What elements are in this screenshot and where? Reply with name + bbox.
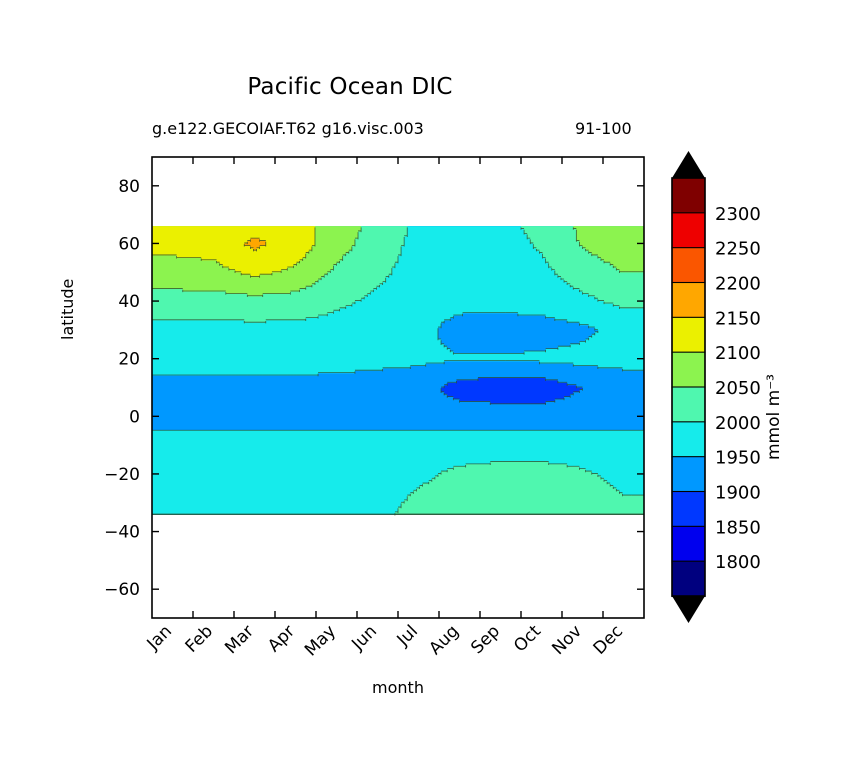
colorbar-tick-label: 1850 (715, 517, 761, 538)
colorbar-band[interactable] (672, 178, 705, 213)
colorbar-tick-label: 2300 (715, 204, 761, 225)
colorbar-tick-label: 1900 (715, 483, 761, 504)
colorbar-tick-label: 2150 (715, 308, 761, 329)
y-tick-label: −60 (104, 580, 140, 600)
x-tick-label: Jul (393, 621, 422, 650)
colorbar-band[interactable] (672, 317, 705, 352)
colorbar-band[interactable] (672, 457, 705, 492)
colorbar-band[interactable] (672, 526, 705, 561)
colorbar-tick-label: 2050 (715, 378, 761, 399)
x-tick-label: Dec (590, 621, 627, 658)
y-tick-label: −20 (104, 465, 140, 485)
contour-field (152, 226, 644, 515)
x-tick-label: Sep (467, 621, 504, 658)
colorbar-band[interactable] (672, 248, 705, 283)
colorbar-band[interactable] (672, 213, 705, 248)
y-tick-label: 40 (118, 292, 140, 312)
colorbar-tick-label: 2200 (715, 274, 761, 295)
colorbar-band[interactable] (672, 283, 705, 318)
x-tick-label: Jun (347, 621, 381, 655)
y-tick-label: 0 (129, 407, 140, 427)
colorbar-band[interactable] (672, 352, 705, 387)
colorbar-band[interactable] (672, 387, 705, 422)
y-tick-label: 20 (118, 350, 140, 370)
plot-svg: 806040200−20−40−60 JanFebMarAprMayJunJul… (0, 0, 866, 783)
colorbar-band[interactable] (672, 422, 705, 457)
colorbar-band[interactable] (672, 492, 705, 527)
figure-canvas: Pacific Ocean DIC g.e122.GECOIAF.T62 g16… (0, 0, 866, 783)
colorbar[interactable] (672, 151, 705, 623)
colorbar-tick-label: 2000 (715, 413, 761, 434)
colorbar-tick-label: 2250 (715, 239, 761, 260)
colorbar-tick-labels: 2300225022002150210020502000195019001850… (715, 204, 761, 573)
colorbar-tick-label: 2100 (715, 343, 761, 364)
x-tick-label: Nov (548, 621, 586, 659)
x-tick-label: Feb (182, 621, 217, 656)
colorbar-tick-label: 1800 (715, 552, 761, 573)
colorbar-extend-down-triangle (672, 596, 705, 623)
y-tick-labels: 806040200−20−40−60 (104, 177, 140, 600)
x-tick-label: May (301, 621, 340, 660)
x-tick-label: Mar (221, 621, 258, 658)
y-tick-label: 80 (118, 177, 140, 197)
colorbar-tick-label: 1950 (715, 448, 761, 469)
colorbar-band[interactable] (672, 561, 705, 596)
x-tick-label: Apr (264, 621, 299, 656)
x-tick-label: Oct (510, 621, 545, 656)
y-tick-label: 60 (118, 234, 140, 254)
colorbar-extend-up-triangle (672, 151, 705, 178)
y-tick-label: −40 (104, 523, 140, 543)
x-tick-label: Aug (425, 621, 463, 659)
x-tick-labels: JanFebMarAprMayJunJulAugSepOctNovDec (143, 621, 627, 660)
x-tick-label: Jan (143, 621, 176, 654)
